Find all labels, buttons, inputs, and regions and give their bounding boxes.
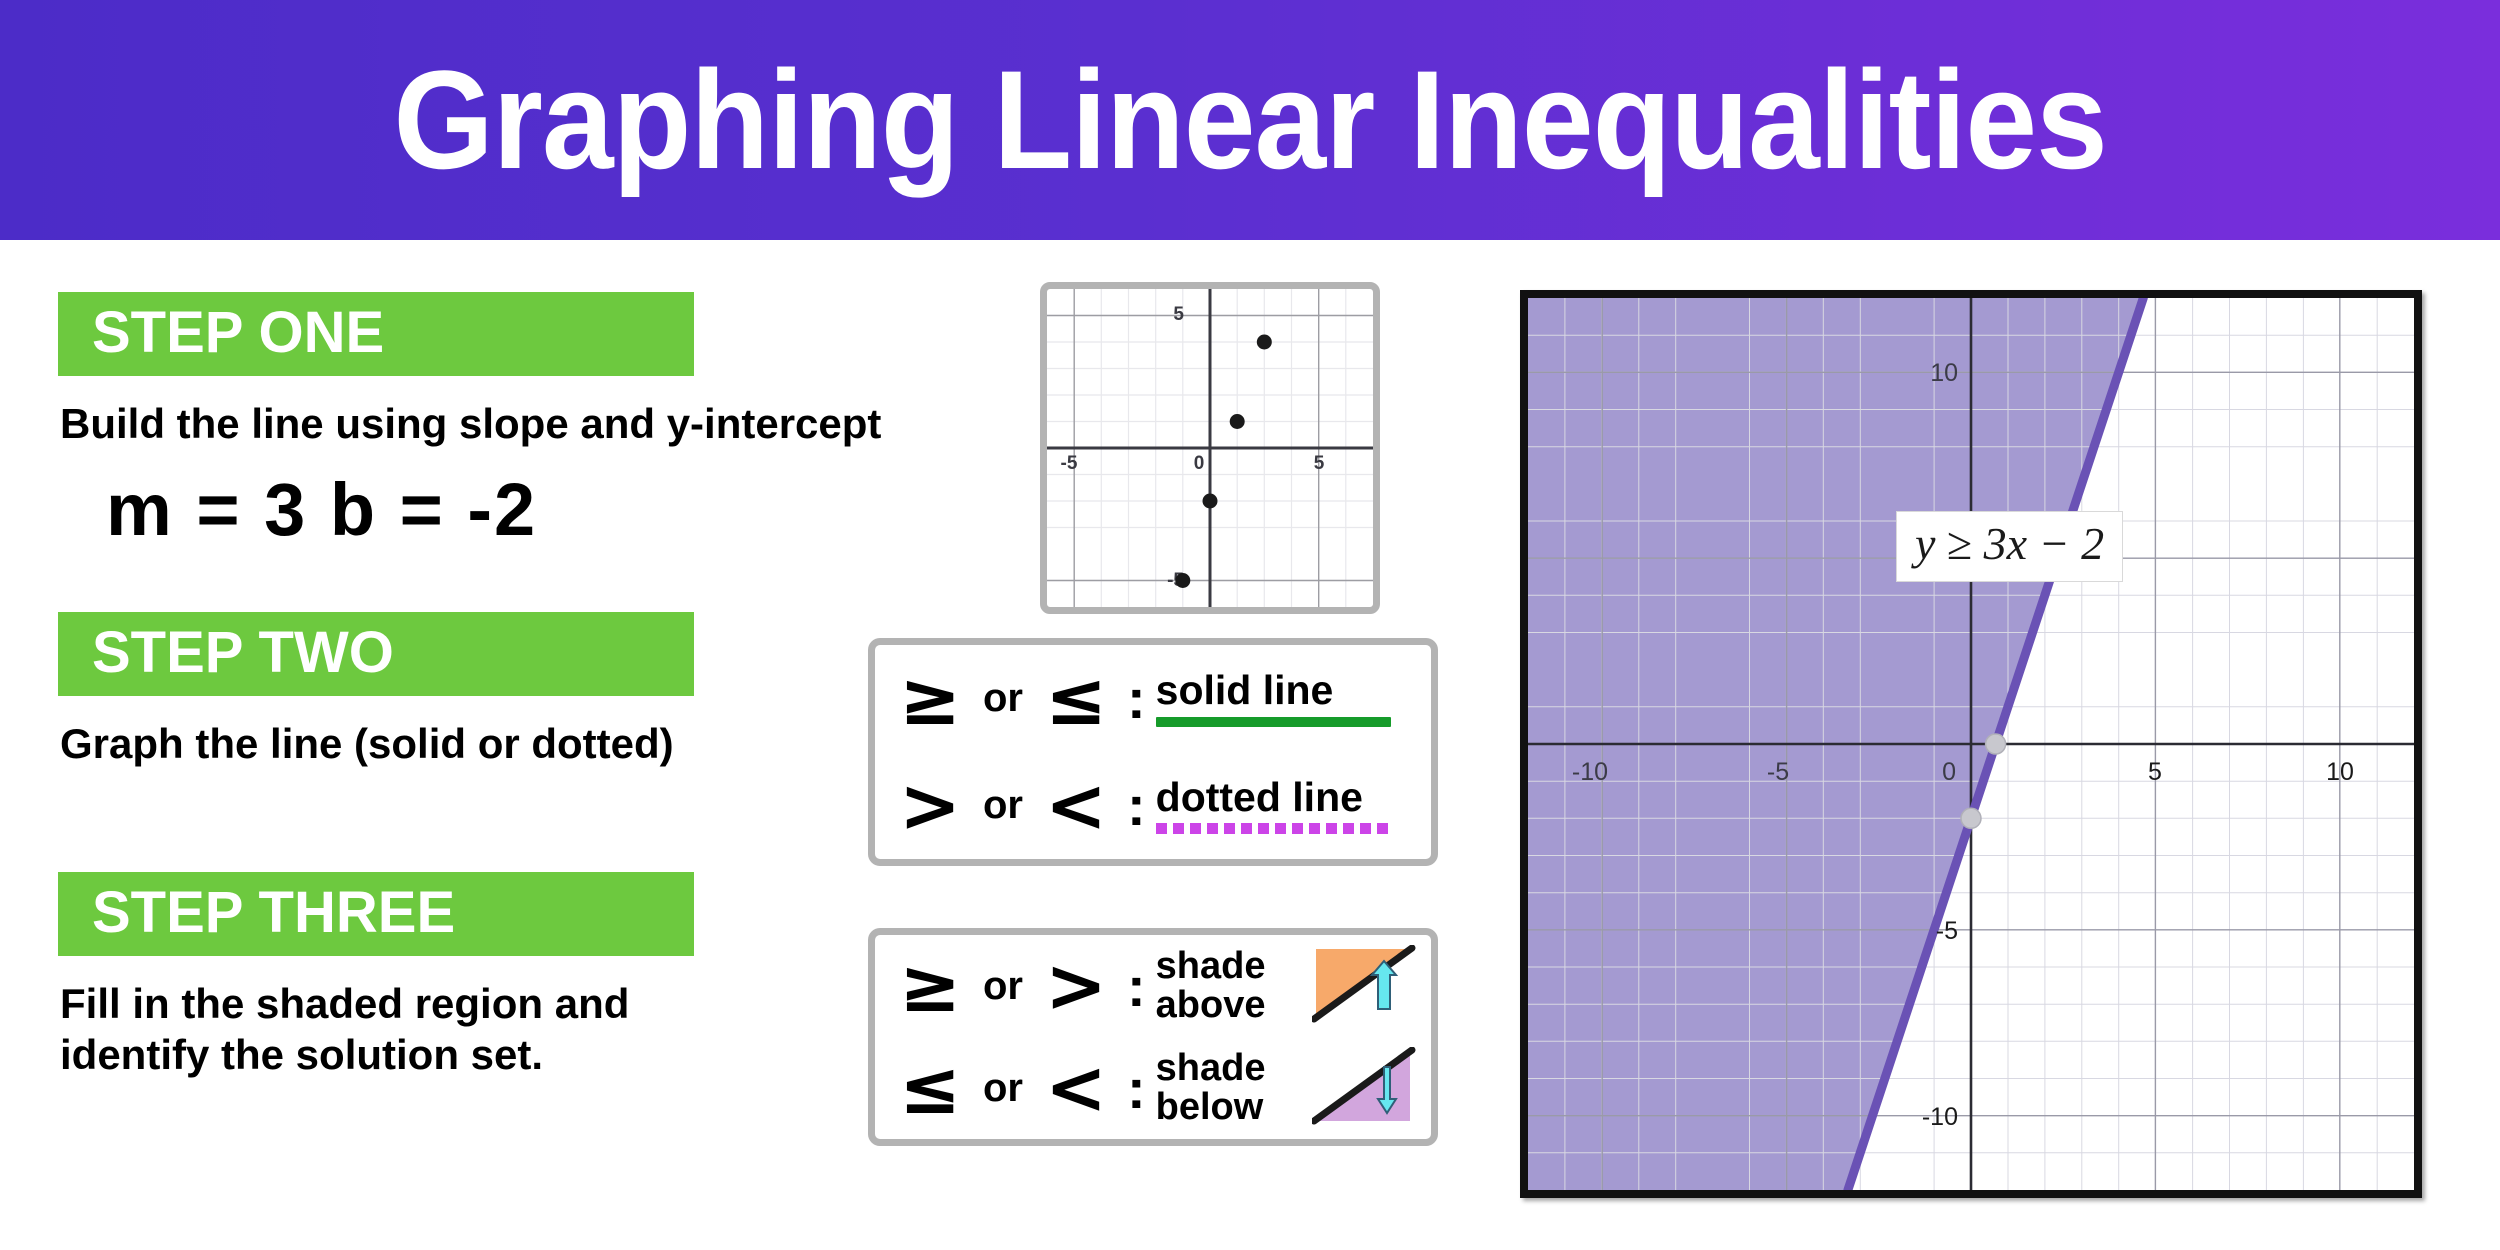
step-two-block: STEP TWO Graph the line (solid or dotted… bbox=[58, 612, 694, 769]
legend-colon: : bbox=[1127, 773, 1146, 838]
xtick-0: 0 bbox=[1942, 758, 1956, 786]
shade-below-label: shade below bbox=[1156, 1049, 1306, 1127]
step-three-description: Fill in the shaded region and identify t… bbox=[60, 978, 780, 1080]
greater-or-equal-icon: ≥ bbox=[893, 662, 967, 736]
legend-row-solid: ≥ or ≤ : solid line bbox=[875, 645, 1431, 752]
less-or-equal-icon: ≤ bbox=[1039, 662, 1113, 736]
dotted-line-swatch bbox=[1156, 823, 1391, 834]
small-plot-points bbox=[1175, 335, 1272, 589]
y-intercept-point[interactable] bbox=[1961, 808, 1981, 828]
shade-below-icon bbox=[1312, 1047, 1416, 1130]
xtick-5: 5 bbox=[2148, 758, 2162, 786]
solid-line-label: solid line bbox=[1156, 670, 1334, 712]
legend-or-label: or bbox=[983, 964, 1023, 1009]
line-style-legend-panel: ≥ or ≤ : solid line > or < : dotted line bbox=[868, 638, 1438, 866]
dotted-line-label: dotted line bbox=[1156, 777, 1363, 819]
shade-below-label-line1: shade bbox=[1156, 1047, 1266, 1089]
plot-point bbox=[1230, 414, 1245, 429]
shade-above-icon bbox=[1312, 945, 1416, 1028]
main-graph-svg: -10 -5 0 5 10 10 5 -5 -10 bbox=[1528, 298, 2414, 1190]
less-than-icon: < bbox=[1039, 769, 1113, 843]
legend-or-label: or bbox=[983, 783, 1023, 828]
less-or-equal-icon: ≤ bbox=[893, 1051, 967, 1125]
dotted-line-sample-group: dotted line bbox=[1156, 777, 1391, 835]
x-intercept-point[interactable] bbox=[1986, 734, 2006, 754]
greater-or-equal-icon: ≥ bbox=[893, 949, 967, 1023]
small-plot-xtick-0: 0 bbox=[1194, 453, 1205, 474]
small-plot-ytick-5: 5 bbox=[1173, 304, 1184, 325]
step-three-block: STEP THREE Fill in the shaded region and… bbox=[58, 872, 780, 1080]
step-one-formula: m = 3 b = -2 bbox=[106, 467, 881, 552]
ytick-neg10: -10 bbox=[1922, 1103, 1958, 1131]
legend-row-dotted: > or < : dotted line bbox=[875, 752, 1431, 859]
small-plot-axes bbox=[1047, 289, 1373, 607]
greater-than-icon: > bbox=[893, 769, 967, 843]
main-inequality-graph: -10 -5 0 5 10 10 5 -5 -10 y ≥ 3x − 2 bbox=[1520, 290, 2422, 1198]
ytick-10: 10 bbox=[1930, 359, 1958, 387]
legend-colon: : bbox=[1127, 954, 1146, 1019]
page-header: Graphing Linear Inequalities bbox=[0, 0, 2500, 240]
less-than-icon: < bbox=[1039, 1051, 1113, 1125]
step-three-banner: STEP THREE bbox=[58, 872, 694, 956]
legend-row-shade-below: ≤ or < : shade below bbox=[875, 1037, 1431, 1139]
greater-than-icon: > bbox=[1039, 949, 1113, 1023]
xtick-neg10: -10 bbox=[1572, 758, 1608, 786]
small-coordinate-plot: 5 -5 -5 0 5 bbox=[1040, 282, 1380, 614]
page-title: Graphing Linear Inequalities bbox=[393, 50, 2106, 190]
solid-line-swatch bbox=[1156, 717, 1391, 727]
legend-colon: : bbox=[1127, 666, 1146, 731]
plot-point bbox=[1257, 335, 1272, 350]
equation-relation: ≥ bbox=[1947, 518, 1972, 569]
equation-annotation: y ≥ 3x − 2 bbox=[1896, 511, 2123, 582]
equation-rhs: 3x − 2 bbox=[1984, 518, 2104, 569]
step-two-description: Graph the line (solid or dotted) bbox=[60, 718, 694, 769]
shade-above-label-line2: above bbox=[1156, 984, 1266, 1026]
solid-line-sample-group: solid line bbox=[1156, 670, 1391, 727]
small-plot-svg: 5 -5 -5 0 5 bbox=[1047, 289, 1373, 607]
xtick-10: 10 bbox=[2326, 758, 2354, 786]
shade-above-label-line1: shade bbox=[1156, 945, 1266, 987]
legend-or-label: or bbox=[983, 1066, 1023, 1111]
equation-lhs: y bbox=[1915, 518, 1935, 569]
plot-point bbox=[1203, 494, 1218, 509]
ytick-neg5: -5 bbox=[1936, 917, 1958, 945]
step-one-banner: STEP ONE bbox=[58, 292, 694, 376]
small-plot-xtick-neg5: -5 bbox=[1061, 453, 1078, 474]
legend-row-shade-above: ≥ or > : shade above bbox=[875, 935, 1431, 1037]
shade-above-label: shade above bbox=[1156, 947, 1306, 1025]
legend-colon: : bbox=[1127, 1056, 1146, 1121]
step-one-description: Build the line using slope and y-interce… bbox=[60, 398, 881, 449]
plot-point bbox=[1175, 573, 1190, 588]
small-plot-xtick-5: 5 bbox=[1314, 453, 1325, 474]
shade-below-label-line2: below bbox=[1156, 1086, 1264, 1128]
xtick-neg5: -5 bbox=[1767, 758, 1789, 786]
legend-or-label: or bbox=[983, 676, 1023, 721]
step-one-block: STEP ONE Build the line using slope and … bbox=[58, 292, 881, 552]
step-two-banner: STEP TWO bbox=[58, 612, 694, 696]
shading-direction-legend-panel: ≥ or > : shade above ≤ or < : shade b bbox=[868, 928, 1438, 1146]
